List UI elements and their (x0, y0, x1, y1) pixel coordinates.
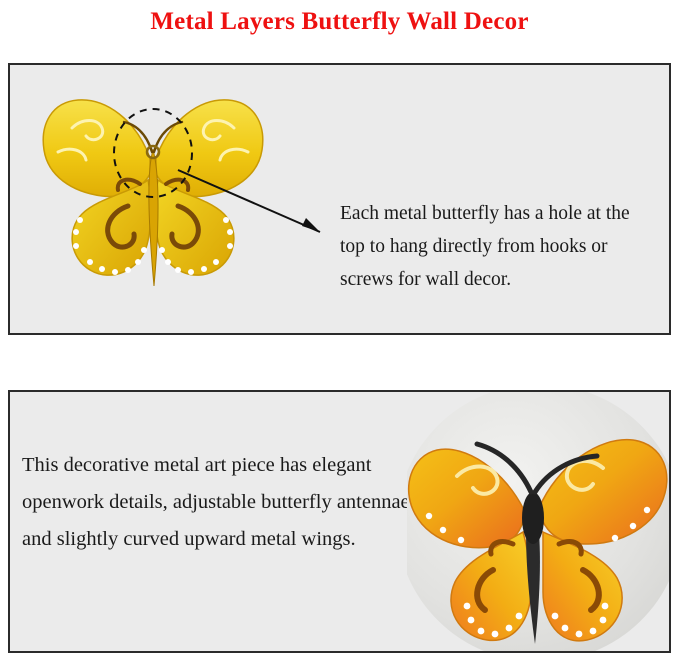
product-infographic: Metal Layers Butterfly Wall Decor (0, 0, 679, 663)
yellow-butterfly-illustration (28, 80, 278, 305)
top-feature-panel: Each metal butterfly has a hole at the t… (8, 63, 671, 335)
butterfly-photo (407, 392, 669, 651)
description-text: This decorative metal art piece has eleg… (22, 447, 422, 558)
bottom-feature-panel: This decorative metal art piece has eleg… (8, 390, 671, 653)
page-title: Metal Layers Butterfly Wall Decor (0, 8, 679, 36)
callout-text: Each metal butterfly has a hole at the t… (340, 197, 645, 296)
